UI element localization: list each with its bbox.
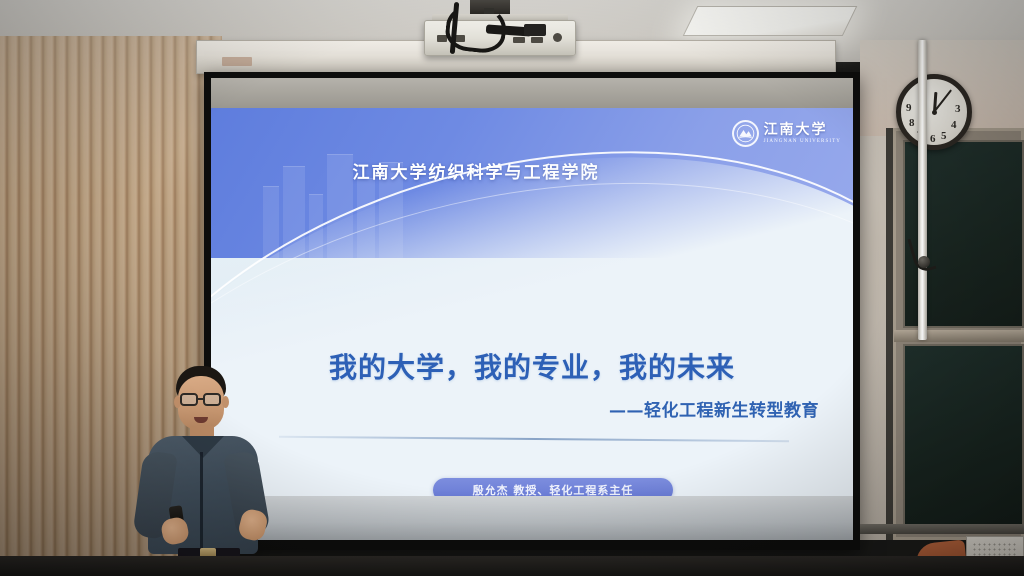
glasses-bridge-icon xyxy=(198,398,203,400)
clock-number-4: 4 xyxy=(951,119,957,131)
glasses-lens-left-icon xyxy=(180,393,198,406)
university-name-en: JIANGNAN UNIVERSITY xyxy=(764,139,841,144)
clock-number-3: 3 xyxy=(955,103,961,115)
projector-port-3 xyxy=(513,37,525,43)
university-logo-text: 江南大学 JIANGNAN UNIVERSITY xyxy=(764,123,841,144)
projection-screen: 江南大学纺织科学与工程学院 江南大学 JIANGNAN UNIVERSITY xyxy=(211,78,853,540)
desk-edge xyxy=(860,524,1024,534)
slide-main-title: 我的大学，我的专业，我的未来 xyxy=(211,346,853,386)
clock-center-pin xyxy=(932,110,937,115)
floor-strip xyxy=(0,556,1024,576)
presentation-slide: 江南大学纺织科学与工程学院 江南大学 JIANGNAN UNIVERSITY xyxy=(211,108,853,496)
blackboard-lower-panel xyxy=(903,344,1024,534)
university-emblem-icon xyxy=(732,120,759,147)
projector-port-4 xyxy=(531,37,543,43)
screen-top-trim xyxy=(211,78,853,108)
glasses-lens-right-icon xyxy=(203,393,221,406)
projector-cable-connector xyxy=(524,24,546,36)
wall-clock: 3 4 5 6 7 8 9 xyxy=(896,74,972,150)
presenter-badge-text: 殷允杰 教授、轻化工程系主任 xyxy=(473,482,634,496)
presenter-ear-right xyxy=(222,396,229,408)
presenter xyxy=(118,360,298,576)
housing-label xyxy=(222,57,252,66)
classroom-scene: 3 4 5 6 7 8 9 xyxy=(0,0,1024,576)
pole-tip xyxy=(918,256,930,268)
clock-number-8: 8 xyxy=(909,117,915,129)
window-opener-pole xyxy=(918,40,927,340)
clock-number-6: 6 xyxy=(930,133,936,145)
chalk-rail xyxy=(894,330,1024,342)
university-name-cn: 江南大学 xyxy=(764,123,841,137)
ceiling-light-icon xyxy=(683,6,858,36)
slide-subtitle: ——轻化工程新生转型教育 xyxy=(211,396,819,421)
presenter-badge: 殷允杰 教授、轻化工程系主任 xyxy=(433,478,673,496)
university-logo: 江南大学 JIANGNAN UNIVERSITY xyxy=(732,120,841,147)
clock-number-9: 9 xyxy=(906,102,912,114)
clock-number-5: 5 xyxy=(941,130,947,142)
projector-lens xyxy=(553,33,562,42)
screen-bottom-band xyxy=(211,496,853,540)
shirt-placket xyxy=(200,452,203,552)
